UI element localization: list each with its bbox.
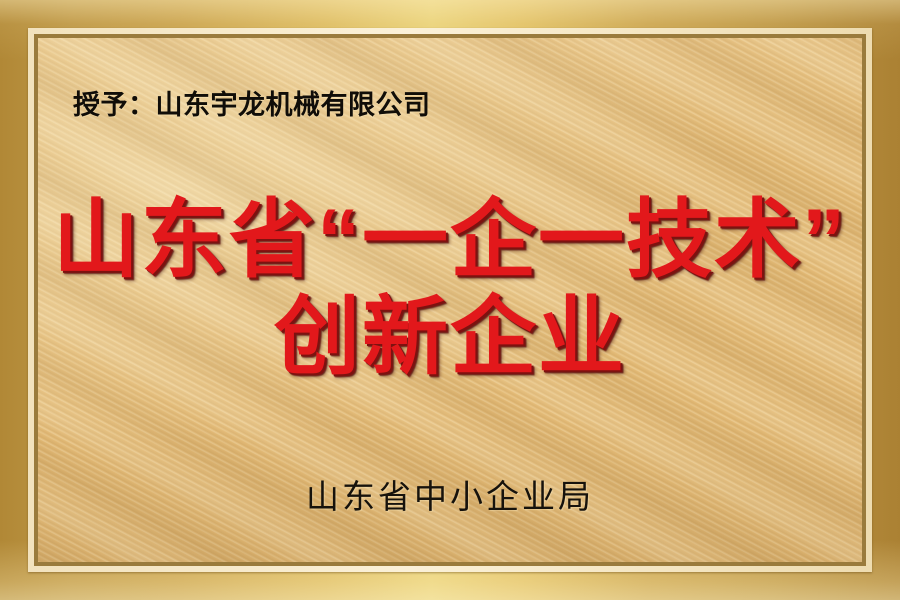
award-title: 山东省“一企一技术” 创新企业 <box>0 196 900 383</box>
issuing-authority: 山东省中小企业局 <box>0 470 900 518</box>
award-title-line-1: 山东省“一企一技术” <box>0 196 900 285</box>
awarded-to-text: 授予：山东宇龙机械有限公司 <box>73 83 431 122</box>
plaque-content: 授予：山东宇龙机械有限公司 山东省“一企一技术” 创新企业 山东省中小企业局 <box>0 0 900 600</box>
award-title-line-2: 创新企业 <box>0 293 900 382</box>
award-plaque: 授予：山东宇龙机械有限公司 山东省“一企一技术” 创新企业 山东省中小企业局 <box>0 0 900 600</box>
